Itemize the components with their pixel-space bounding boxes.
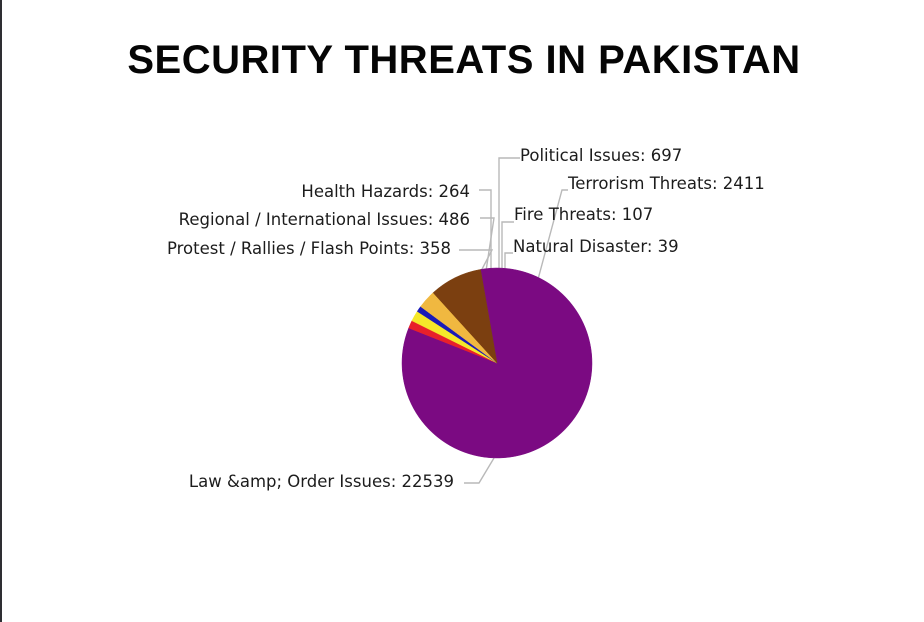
leader-line-regional-international [480,218,494,271]
leader-line-natural-disaster [505,253,513,268]
pie-chart-plot [2,0,924,622]
pie-label-fire-threats: Fire Threats: 107 [514,207,653,224]
pie-label-regional-international: Regional / International Issues: 486 [179,212,470,229]
pie-label-health-hazards: Health Hazards: 264 [301,184,470,201]
leader-line-law-order [464,458,494,483]
pie-label-terrorism-threats: Terrorism Threats: 2411 [568,176,765,193]
leader-line-health-hazards [479,190,491,270]
pie-slices [402,268,592,458]
pie-label-political-issues: Political Issues: 697 [520,148,682,165]
pie-label-protest-rallies: Protest / Rallies / Flash Points: 358 [167,241,451,258]
chart-canvas: SECURITY THREATS IN PAKISTAN Political I… [0,0,924,622]
pie-label-law-order: Law &amp; Order Issues: 22539 [189,474,454,491]
pie-label-natural-disaster: Natural Disaster: 39 [513,239,679,256]
